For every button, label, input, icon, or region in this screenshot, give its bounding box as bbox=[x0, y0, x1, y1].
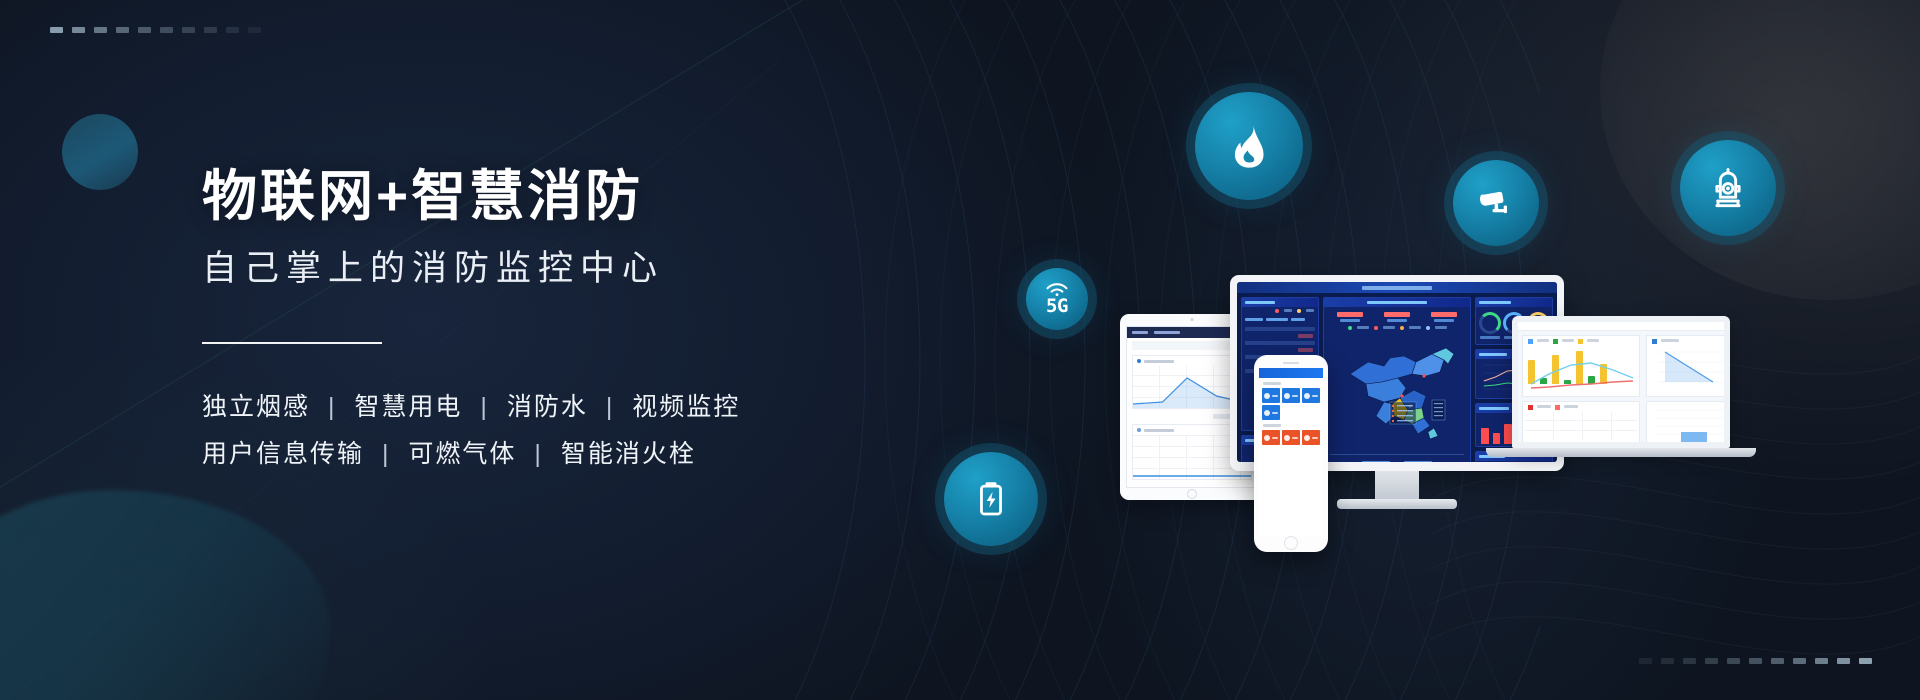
fire-hydrant-icon-bubble[interactable]: 智能消火栓 bbox=[1680, 140, 1776, 236]
phone-section-label-1 bbox=[1263, 382, 1281, 385]
monitor-radar-row bbox=[1324, 457, 1470, 462]
laptop-bar-line-card bbox=[1522, 335, 1640, 397]
flame-icon-bubble[interactable]: 火灾报警 bbox=[1195, 92, 1303, 200]
china-map-graphic bbox=[1324, 332, 1470, 452]
decor-dashes-bottom-right bbox=[1639, 658, 1872, 664]
laptop-overlay-lines bbox=[1527, 354, 1637, 396]
tablet-camera-dot bbox=[1191, 318, 1194, 321]
phone-appbar bbox=[1259, 368, 1323, 378]
feature-line-2: 用户信息传输 | 可燃气体 | 智能消火栓 bbox=[202, 431, 922, 478]
area-chart bbox=[1476, 461, 1552, 462]
monitor-neck bbox=[1375, 471, 1419, 499]
fire-hydrant-icon bbox=[1705, 165, 1751, 211]
phone-home-button[interactable] bbox=[1284, 536, 1298, 550]
laptop-base bbox=[1486, 448, 1756, 457]
laptop-decline-card bbox=[1646, 335, 1724, 397]
feature-item: 独立烟感 bbox=[202, 393, 310, 421]
wifi-arcs-icon bbox=[1045, 283, 1069, 296]
phone-tile-grid-blue bbox=[1259, 388, 1323, 420]
feature-separator: | bbox=[525, 440, 552, 468]
flame-icon bbox=[1223, 120, 1275, 172]
feature-separator: | bbox=[597, 393, 624, 421]
feature-list: 独立烟感 | 智慧用电 | 消防水 | 视频监控 用户信息传输 | 可燃气体 |… bbox=[202, 384, 922, 478]
feature-item: 用户信息传输 bbox=[202, 440, 364, 468]
device-mockup-cluster bbox=[1120, 280, 1880, 580]
panel-china-map bbox=[1323, 297, 1471, 462]
battery-bolt-icon bbox=[969, 477, 1013, 521]
top-right-blob bbox=[1600, 0, 1920, 300]
feature-separator: | bbox=[471, 393, 498, 421]
phone-screen bbox=[1259, 368, 1323, 537]
hero-banner: 物联网+智慧消防 自己掌上的消防监控中心 独立烟感 | 智慧用电 | 消防水 |… bbox=[0, 0, 1920, 700]
laptop-screen bbox=[1518, 322, 1724, 442]
feature-item: 智慧用电 bbox=[354, 393, 462, 421]
phone-speaker bbox=[1283, 362, 1299, 364]
map-kpi-row bbox=[1324, 307, 1470, 324]
5g-label: 5G bbox=[1046, 297, 1068, 316]
phone-tile[interactable] bbox=[1282, 430, 1300, 445]
decorative-orb bbox=[62, 114, 138, 190]
smartphone-mockup[interactable] bbox=[1254, 355, 1328, 552]
feature-item: 视频监控 bbox=[632, 393, 740, 421]
divider bbox=[202, 342, 382, 344]
feature-item: 消防水 bbox=[507, 393, 588, 421]
laptop-mockup[interactable] bbox=[1512, 316, 1730, 457]
phone-section-label-2 bbox=[1263, 424, 1281, 427]
feature-separator: | bbox=[319, 393, 346, 421]
phone-tile[interactable] bbox=[1302, 388, 1320, 403]
laptop-lid bbox=[1512, 316, 1730, 448]
phone-tile[interactable] bbox=[1262, 430, 1280, 445]
laptop-grid-card bbox=[1522, 401, 1640, 442]
phone-tile[interactable] bbox=[1302, 430, 1320, 445]
laptop-decline-chart bbox=[1647, 344, 1724, 390]
cctv-camera-icon-bubble[interactable]: 视频监控 bbox=[1453, 160, 1539, 246]
phone-tile[interactable] bbox=[1282, 388, 1300, 403]
hero-copy: 物联网+智慧消防 自己掌上的消防监控中心 独立烟感 | 智慧用电 | 消防水 |… bbox=[202, 168, 922, 478]
monitor-stand bbox=[1337, 499, 1457, 509]
feature-item: 可燃气体 bbox=[408, 440, 516, 468]
laptop-small-bar-card bbox=[1646, 401, 1724, 442]
laptop-small-bar-chart bbox=[1647, 402, 1724, 442]
page-subtitle: 自己掌上的消防监控中心 bbox=[202, 248, 922, 290]
bottom-left-blob bbox=[0, 490, 330, 700]
5g-signal-icon-bubble[interactable]: 5G bbox=[1026, 268, 1088, 330]
page-title: 物联网+智慧消防 bbox=[202, 168, 922, 226]
feature-line-1: 独立烟感 | 智慧用电 | 消防水 | 视频监控 bbox=[202, 384, 922, 431]
feature-separator: | bbox=[373, 440, 400, 468]
phone-tile[interactable] bbox=[1262, 388, 1280, 403]
battery-bolt-icon-bubble[interactable]: 智慧用电 bbox=[944, 452, 1038, 546]
cctv-camera-icon bbox=[1475, 182, 1517, 224]
tablet-home-button[interactable] bbox=[1187, 489, 1197, 499]
phone-tile[interactable] bbox=[1262, 405, 1280, 420]
phone-tile-grid-orange bbox=[1259, 430, 1323, 445]
decor-dashes-top-left bbox=[50, 27, 261, 33]
feature-item: 智能消火栓 bbox=[561, 440, 696, 468]
